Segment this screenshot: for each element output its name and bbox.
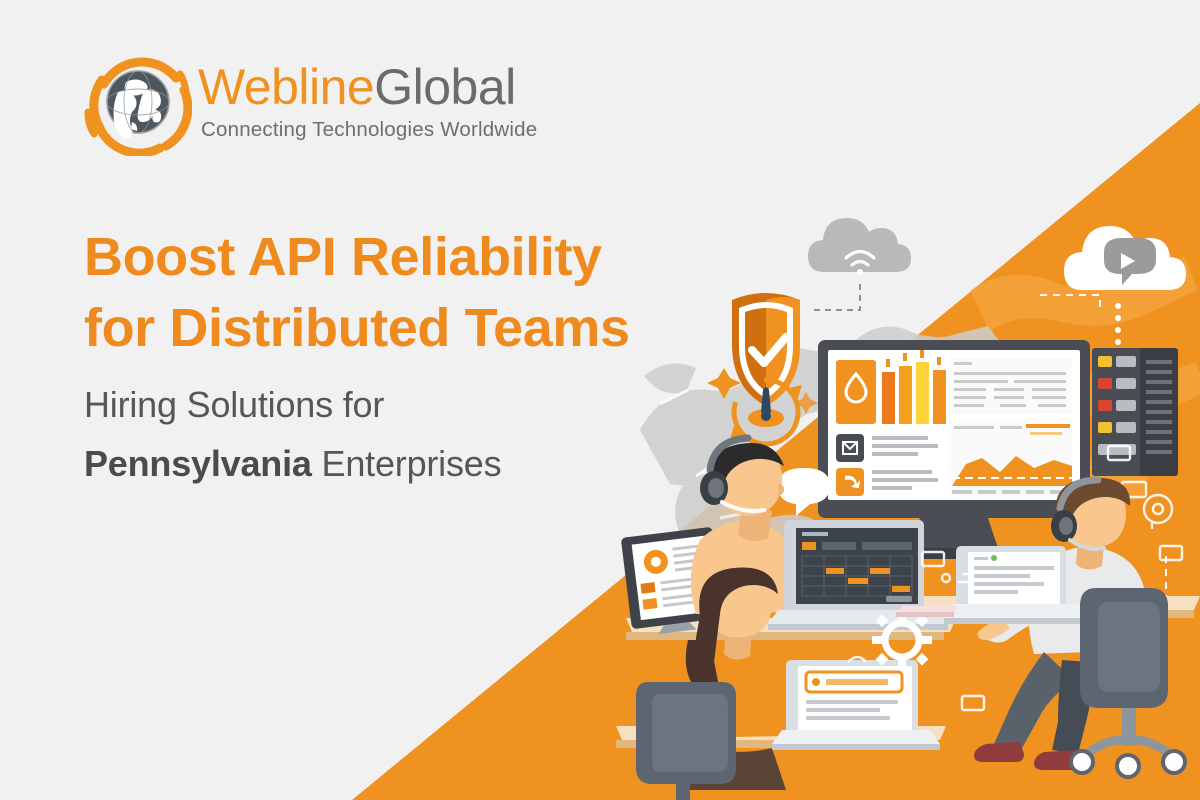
phone-card [836,468,864,496]
brand-tagline: Connecting Technologies Worldwide [201,118,537,142]
brand-name-second: Global [374,59,516,115]
subheadline-location: Pennsylvania [84,443,312,484]
office-chair-front [636,682,736,800]
subheadline: Hiring Solutions for Pennsylvania Enterp… [84,375,501,494]
desk-paper [896,606,958,617]
sparkle-icon [707,368,741,399]
headline: Boost API Reliability for Distributed Te… [84,222,630,365]
subheadline-line-1: Hiring Solutions for [84,375,501,434]
marketing-banner: WeblineGlobal Connecting Technologies Wo… [0,0,1200,800]
cloud-wifi-icon [808,218,911,310]
brand-wordmark: WeblineGlobal [198,62,537,112]
globe-swirl-logo-icon [84,48,192,156]
subheadline-line-2: Pennsylvania Enterprises [84,434,501,493]
headline-line-1: Boost API Reliability [84,222,630,293]
laptop-front [772,660,940,750]
brand-logo[interactable]: WeblineGlobal Connecting Technologies Wo… [84,48,537,156]
office-chair-right [1071,588,1185,777]
subheadline-suffix: Enterprises [312,443,502,484]
headline-line-2: for Distributed Teams [84,293,630,364]
droplet-card [836,360,876,424]
server-rack [1092,348,1178,476]
brand-name-first: Webline [198,59,374,115]
cloud-chat-icon [1064,226,1186,345]
